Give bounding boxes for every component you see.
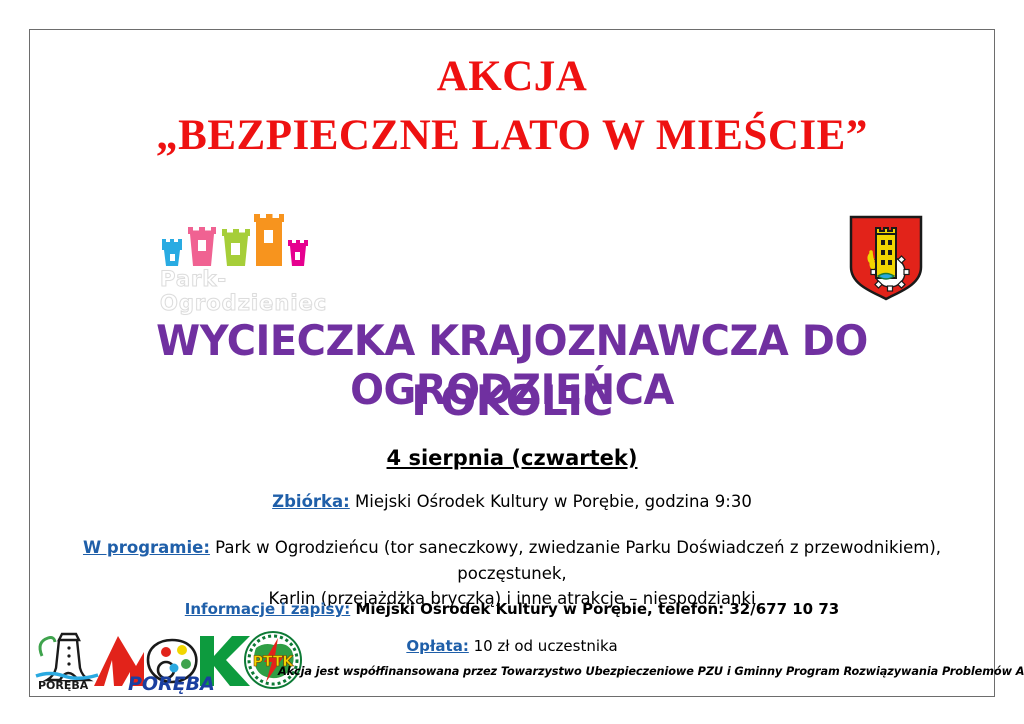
mok-poreba-logo: PORĘBA	[92, 632, 252, 694]
coat-of-arms-icon	[848, 214, 924, 302]
park-ogrodzieniec-caption: Park-Ogrodzieniec	[160, 267, 360, 315]
mok-logo-sub-caption: PORĘBA	[128, 673, 215, 694]
poster-title-line-2: „BEZPIECZNE LATO W MIEŚCIE”	[30, 114, 994, 157]
contact-label: Informacje i zapisy:	[185, 600, 350, 618]
contact-value: Miejski Ośrodek Kultury w Porębie, telef…	[350, 600, 839, 618]
program-value-1: Park w Ogrodzieńcu (tor saneczkowy, zwie…	[210, 538, 941, 583]
footer-financing-note: Akcja jest współfinansowana przez Towarz…	[278, 665, 992, 678]
meeting-point-value: Miejski Ośrodek Kultury w Porębie, godzi…	[350, 492, 752, 511]
event-date: 4 sierpnia (czwartek)	[50, 446, 974, 470]
main-heading-line-2: I OKOLIC	[30, 376, 994, 425]
meeting-point-label: Zbiórka:	[272, 492, 350, 511]
poster-title-line-1: AKCJA	[30, 55, 994, 98]
pttk-logo: PTTK	[242, 630, 304, 690]
poster-page: AKCJA „BEZPIECZNE LATO W MIEŚCIE”	[29, 29, 995, 697]
poreba-logo-caption: PORĘBA	[38, 679, 89, 692]
pttk-emblem-icon: PTTK	[242, 630, 304, 690]
footer-logo-strip: PORĘBA PORĘBA	[30, 622, 994, 696]
mok-palette-icon: PORĘBA	[92, 632, 252, 694]
poreba-coat-of-arms	[848, 214, 924, 302]
park-ogrodzieniec-logo: Park-Ogrodzieniec	[160, 212, 360, 302]
event-date-text: 4 sierpnia (czwartek)	[387, 446, 638, 470]
contact-line: Informacje i zapisy: Miejski Ośrodek Kul…	[50, 600, 974, 618]
program-label: W programie:	[83, 538, 210, 557]
meeting-point-line: Zbiórka: Miejski Ośrodek Kultury w Poręb…	[50, 492, 974, 511]
